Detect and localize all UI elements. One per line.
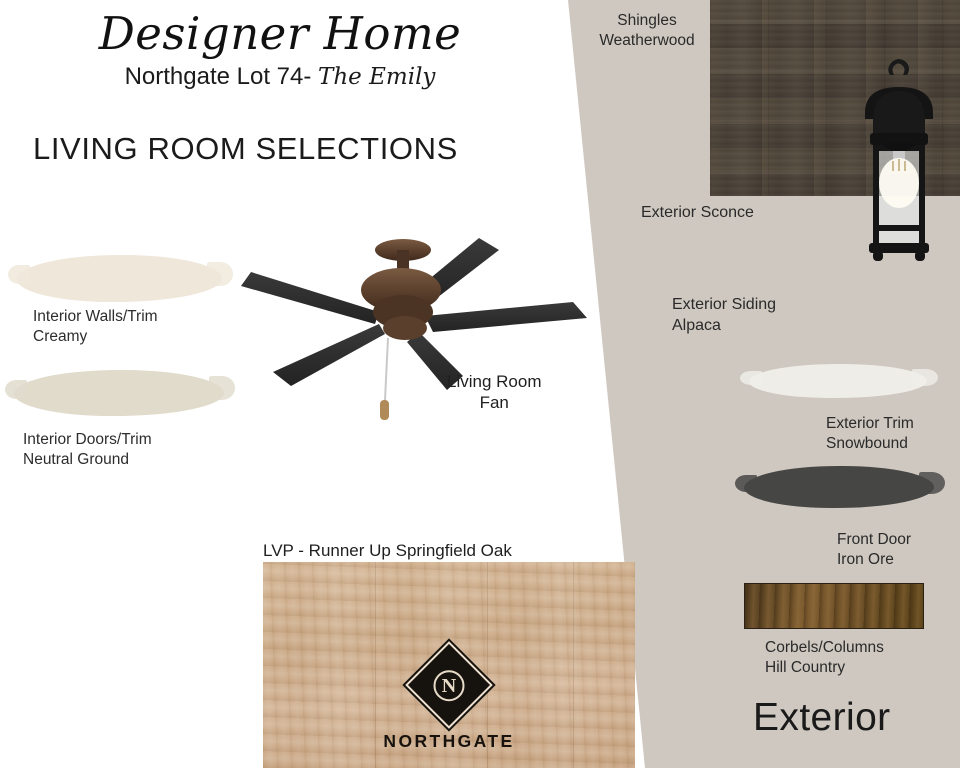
page-subtitle: Northgate Lot 74- The Emily — [0, 63, 560, 92]
board-header: Designer Home Northgate Lot 74- The Emil… — [0, 10, 560, 92]
logo-letter-n: N — [434, 670, 465, 701]
label-living-room-fan: Living Room Fan — [447, 371, 542, 414]
label-exterior-trim-snowbound: Exterior Trim Snowbound — [826, 414, 914, 454]
northgate-logo: N NORTHGATE — [383, 654, 515, 752]
exterior-sconce-image — [853, 55, 945, 277]
label-shingles-weatherwood: Shingles Weatherwood — [586, 11, 708, 51]
swatch-interior-walls-creamy — [17, 255, 222, 302]
subtitle-lot: Northgate Lot 74- — [125, 63, 318, 90]
page-title: Designer Home — [0, 10, 560, 57]
swatch-exterior-trim-snowbound — [749, 364, 927, 398]
section-heading: LIVING ROOM SELECTIONS — [33, 132, 458, 167]
swatch-front-door-iron-ore — [744, 466, 934, 508]
label-interior-doors-neutral-ground: Interior Doors/Trim Neutral Ground — [23, 430, 152, 470]
swatch-interior-doors-neutral-ground — [14, 370, 224, 416]
label-front-door-iron-ore: Front Door Iron Ore — [837, 530, 911, 570]
label-interior-walls-creamy: Interior Walls/Trim Creamy — [33, 307, 158, 347]
diamond-icon: N — [405, 641, 493, 729]
label-corbels-hill-country: Corbels/Columns Hill Country — [765, 638, 884, 678]
label-exterior-siding-alpaca: Exterior Siding Alpaca — [672, 295, 776, 337]
design-selection-board: Designer Home Northgate Lot 74- The Emil… — [0, 0, 960, 768]
exterior-section-heading: Exterior — [753, 698, 891, 737]
label-exterior-sconce: Exterior Sconce — [641, 204, 754, 222]
logo-wordmark: NORTHGATE — [383, 731, 515, 752]
lvp-flooring-swatch: N NORTHGATE — [263, 562, 635, 768]
swatch-corbels-hill-country — [744, 583, 924, 629]
lantern-icon — [853, 55, 945, 277]
subtitle-plan-name: The Emily — [318, 64, 435, 90]
label-lvp-flooring: LVP - Runner Up Springfield Oak — [263, 541, 512, 561]
